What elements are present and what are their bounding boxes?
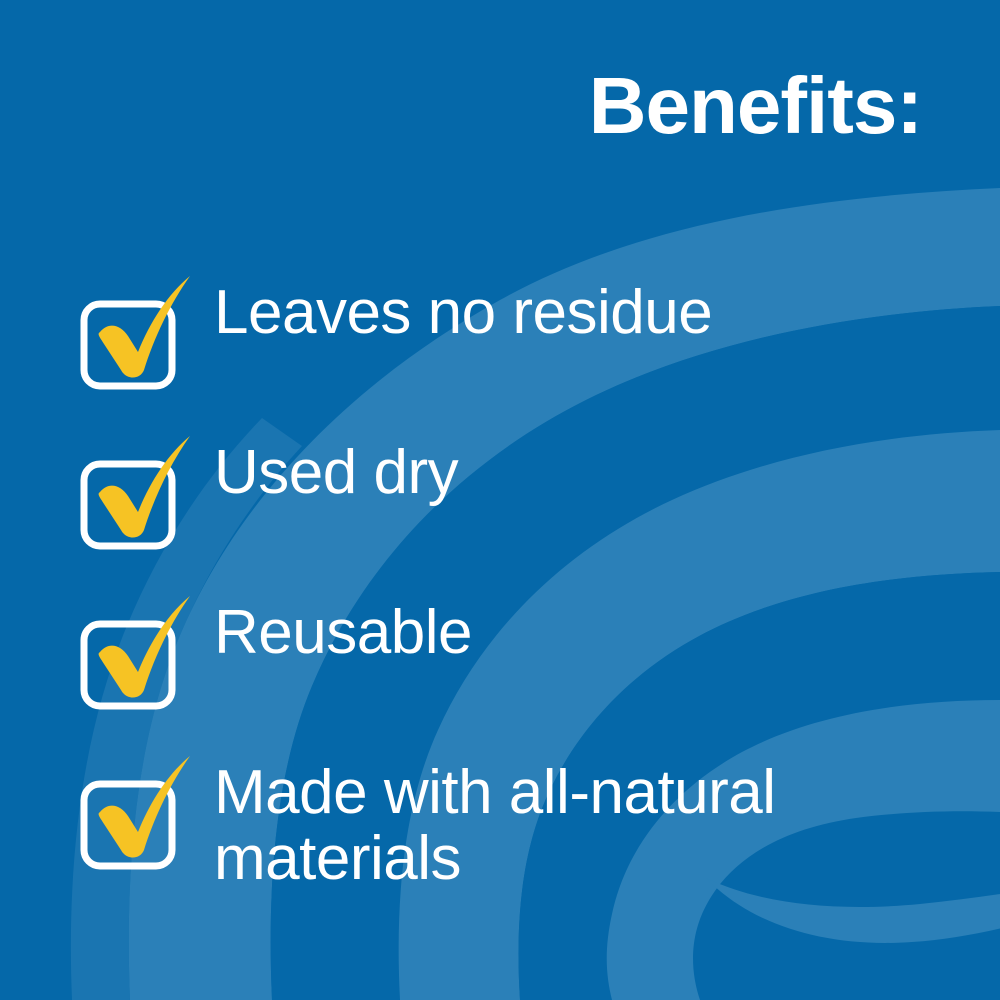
list-item-label: Reusable bbox=[214, 600, 472, 666]
list-item: Leaves no residue bbox=[78, 268, 712, 374]
swirl-second-light-band bbox=[399, 430, 1000, 1000]
list-item-label: Made with all-natural materials bbox=[214, 760, 964, 891]
list-item: Used dry bbox=[78, 428, 458, 534]
checkbox-checked-icon bbox=[78, 594, 186, 694]
checkbox-checked-icon bbox=[78, 754, 186, 854]
list-item: Made with all-natural materials bbox=[78, 748, 964, 891]
list-item: Reusable bbox=[78, 588, 472, 694]
list-item-label: Leaves no residue bbox=[214, 280, 712, 346]
page-title: Benefits: bbox=[0, 66, 922, 146]
benefits-poster: Benefits: Leaves no residue Used dry bbox=[0, 0, 1000, 1000]
list-item-label: Used dry bbox=[214, 440, 458, 506]
checkbox-checked-icon bbox=[78, 434, 186, 534]
checkbox-checked-icon bbox=[78, 274, 186, 374]
